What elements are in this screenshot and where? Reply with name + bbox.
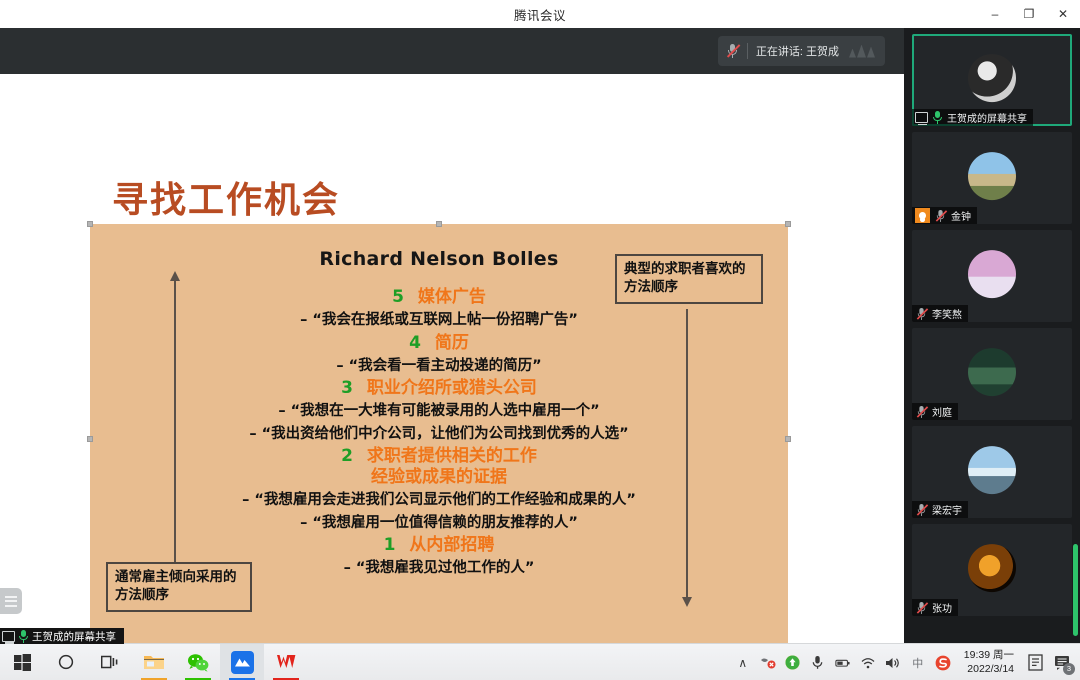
wps-icon [276, 653, 296, 671]
avatar [968, 544, 1016, 592]
wechat-button[interactable] [176, 644, 220, 680]
volume-icon[interactable] [885, 655, 901, 671]
screen-share-icon [915, 112, 928, 123]
step-number: 3 [341, 378, 353, 398]
speaking-indicator: 正在讲话: 王贺成 [718, 36, 885, 66]
resize-handle-n[interactable] [436, 221, 442, 227]
window-controls: – ❐ ✕ [978, 0, 1080, 28]
step-label: 简历 [435, 333, 469, 353]
panel-scrollbar[interactable] [1073, 544, 1078, 636]
file-explorer-button[interactable] [132, 644, 176, 680]
participant-namebar: 金钟 [912, 207, 977, 224]
step-heading: 4简历 [90, 332, 788, 355]
taskbar-share-overlay: 王贺成的屏幕共享 [0, 628, 124, 644]
minimize-button[interactable]: – [978, 0, 1012, 28]
resize-handle-w[interactable] [87, 436, 93, 442]
step-heading: 2求职者提供相关的工作 [90, 445, 788, 468]
meeting-header-bar: 正在讲话: 王贺成 [0, 28, 904, 74]
clock-time: 19:39 周一 [964, 649, 1014, 663]
mic-on-icon [932, 111, 943, 124]
screen-share-icon [2, 631, 15, 642]
windows-taskbar: ∧ [0, 643, 1080, 680]
step-number: 5 [392, 287, 404, 307]
avatar [968, 54, 1016, 102]
mic-muted-icon [916, 601, 927, 615]
notification-count: 3 [1063, 663, 1075, 675]
participant-name: 梁宏宇 [932, 502, 962, 517]
sidebar-toggle-tab[interactable] [0, 588, 22, 614]
participant-name: 刘庭 [932, 404, 952, 419]
tencent-meeting-icon [231, 651, 254, 674]
step-quote: – “我想在一大堆有可能被录用的人选中雇用一个” [90, 400, 788, 423]
system-tray: ∧ [735, 644, 1080, 680]
participant-name: 王贺成的屏幕共享 [947, 110, 1027, 125]
participant-namebar: 梁宏宇 [912, 501, 968, 518]
window-titlebar: 腾讯会议 – ❐ ✕ [0, 0, 1080, 28]
tencent-meeting-button[interactable] [220, 644, 264, 680]
window-title: 腾讯会议 [514, 5, 566, 24]
mic-muted-icon [726, 43, 739, 59]
maximize-button[interactable]: ❐ [1012, 0, 1046, 28]
participant-name: 李笑熬 [932, 306, 962, 321]
step-number: 2 [341, 446, 353, 466]
avatar [968, 348, 1016, 396]
participant-tile[interactable]: 金钟 [912, 132, 1072, 224]
task-view-button[interactable] [88, 644, 132, 680]
resize-handle-nw[interactable] [87, 221, 93, 227]
step-quote: – “我会看一看主动投递的简历” [90, 355, 788, 378]
resize-handle-e[interactable] [785, 436, 791, 442]
avatar [968, 446, 1016, 494]
search-button[interactable] [44, 644, 88, 680]
participant-tile[interactable]: 刘庭 [912, 328, 1072, 420]
audio-wave-icon [849, 45, 875, 58]
tray-chevron-icon[interactable]: ∧ [735, 655, 751, 671]
avatar [968, 152, 1016, 200]
mic-on-icon [18, 630, 29, 643]
mic-muted-icon [935, 209, 946, 223]
mic-muted-icon [916, 503, 927, 517]
participant-tile[interactable]: 王贺成的屏幕共享 [912, 34, 1072, 126]
speaking-label: 正在讲话: 王贺成 [756, 43, 839, 59]
participant-tile[interactable]: 张功 [912, 524, 1072, 616]
update-icon[interactable] [785, 655, 801, 671]
task-view-icon [101, 655, 119, 670]
step-label-continued: 经验或成果的证据 [90, 468, 788, 489]
wps-button[interactable] [264, 644, 308, 680]
resize-handle-ne[interactable] [785, 221, 791, 227]
step-quote: – “我会在报纸或互联网上帖一份招聘广告” [90, 309, 788, 332]
microphone-icon[interactable] [810, 655, 826, 671]
mic-muted-icon [916, 307, 927, 321]
search-circle-icon [58, 654, 74, 670]
avatar [968, 250, 1016, 298]
windows-logo-icon [14, 654, 31, 671]
participant-name: 金钟 [951, 208, 971, 223]
slide-title: 寻找工作机会 [112, 171, 340, 223]
notes-icon[interactable] [1027, 655, 1043, 671]
security-alert-icon[interactable] [760, 655, 776, 671]
step-quote: – “我出资给他们中介公司，让他们为公司找到优秀的人选” [90, 423, 788, 446]
participant-tile[interactable]: 李笑熬 [912, 230, 1072, 322]
participant-panel[interactable]: 王贺成的屏幕共享金钟李笑熬刘庭梁宏宇张功 [904, 28, 1080, 643]
participant-namebar: 刘庭 [912, 403, 958, 420]
shared-screen-area: 寻找工作机会 Richard Nelson Bolles 5媒体广告– “我会在… [0, 74, 904, 643]
ime-indicator[interactable]: 中 [910, 655, 926, 671]
participant-namebar: 李笑熬 [912, 305, 968, 322]
step-heading: 3职业介绍所或猎头公司 [90, 377, 788, 400]
close-button[interactable]: ✕ [1046, 0, 1080, 28]
meeting-window: 正在讲话: 王贺成 寻找工作机会 Richard Nelson Bolles 5… [0, 28, 1080, 643]
step-label: 求职者提供相关的工作 [367, 446, 537, 466]
step-quote: – “我想雇用一位值得信赖的朋友推荐的人” [90, 512, 788, 535]
step-heading: 1从内部招聘 [90, 534, 788, 557]
divider [747, 43, 748, 59]
callout-employer-order: 通常雇主倾向采用的方法顺序 [106, 562, 252, 612]
folder-icon [143, 653, 165, 671]
mic-muted-icon [916, 405, 927, 419]
sogou-input-icon[interactable] [935, 655, 951, 671]
wechat-icon [187, 653, 209, 672]
step-label: 媒体广告 [418, 287, 486, 307]
step-quote: – “我想雇用会走进我们公司显示他们的工作经验和成果的人” [90, 489, 788, 512]
clock-date: 2022/3/14 [964, 663, 1014, 677]
wifi-icon[interactable] [860, 655, 876, 671]
callout-job-seeker-order: 典型的求职者喜欢的方法顺序 [615, 254, 763, 304]
step-label: 从内部招聘 [409, 535, 494, 555]
clock[interactable]: 19:39 周一 2022/3/14 [960, 649, 1018, 677]
steps-list: 5媒体广告– “我会在报纸或互联网上帖一份招聘广告”4简历– “我会看一看主动投… [90, 286, 788, 580]
participant-name: 张功 [932, 600, 952, 615]
participant-namebar: 张功 [912, 599, 958, 616]
step-number: 4 [409, 333, 421, 353]
battery-icon[interactable] [835, 655, 851, 671]
start-button[interactable] [0, 644, 44, 680]
taskbar-overlay-label: 王贺成的屏幕共享 [32, 629, 116, 644]
participant-namebar: 王贺成的屏幕共享 [912, 109, 1033, 126]
step-number: 1 [384, 535, 396, 555]
notification-center-button[interactable]: 3 [1052, 652, 1074, 674]
step-label: 职业介绍所或猎头公司 [367, 378, 537, 398]
host-badge-icon [915, 208, 930, 223]
participant-tile[interactable]: 梁宏宇 [912, 426, 1072, 518]
